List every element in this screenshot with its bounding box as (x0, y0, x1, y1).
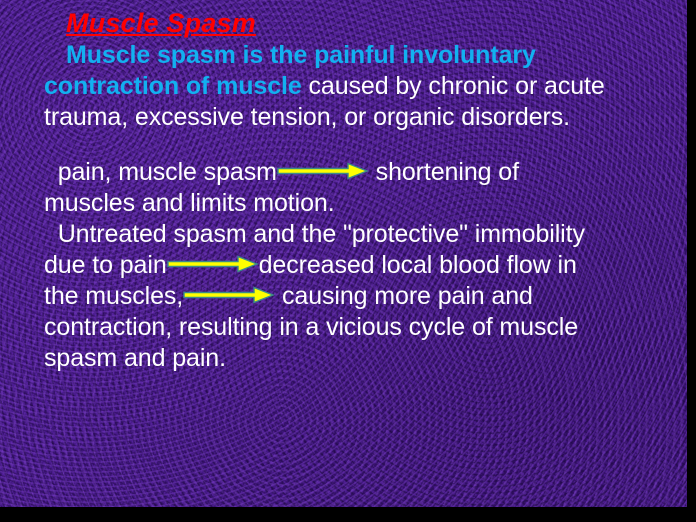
paragraph3-line3: the muscles, causing more pain and (44, 281, 680, 312)
highlight-text-part2: contraction of muscle (44, 72, 302, 100)
right-arrow-icon (167, 255, 259, 273)
paragraph1-line1: Muscle spasm is the painful involuntary (44, 40, 680, 71)
paragraph1-line3: trauma, excessive tension, or organic di… (44, 102, 680, 133)
paragraph2-after-arrow: shortening of (369, 158, 519, 186)
paragraph3-line2: due to paindecreased local blood flow in (44, 250, 680, 281)
paragraph3-line5: spasm and pain. (44, 343, 680, 374)
paragraph3-line1: Untreated spasm and the "protective" imm… (44, 219, 680, 250)
slide-title-line: Muscle Spasm (44, 6, 680, 40)
highlight-text-part1: Muscle spasm is the painful involuntary (66, 41, 536, 69)
paragraph2-line1: pain, muscle spasm shortening of (44, 157, 680, 188)
slide-frame: Muscle Spasm Muscle spasm is the painful… (0, 0, 696, 522)
paragraph3-line3-after-arrow: causing more pain and (275, 282, 533, 310)
right-arrow-icon (277, 162, 369, 180)
paragraph2-before-arrow: pain, muscle spasm (44, 158, 277, 186)
slide-canvas: Muscle Spasm Muscle spasm is the painful… (0, 0, 687, 507)
paragraph-spacer (44, 133, 680, 157)
paragraph3-line3-before-arrow: the muscles, (44, 282, 183, 310)
paragraph1-line2-rest: caused by chronic or acute (302, 72, 605, 100)
paragraph2-line2: muscles and limits motion. (44, 188, 680, 219)
page-title: Muscle Spasm (66, 8, 256, 38)
slide-text-body: Muscle Spasm Muscle spasm is the painful… (44, 6, 680, 374)
paragraph3-line4: contraction, resulting in a vicious cycl… (44, 312, 680, 343)
paragraph1-line2: contraction of muscle caused by chronic … (44, 71, 680, 102)
paragraph3-line2-before-arrow: due to pain (44, 251, 167, 279)
paragraph3-line2-after-arrow: decreased local blood flow in (259, 251, 577, 279)
right-arrow-icon (183, 286, 275, 304)
